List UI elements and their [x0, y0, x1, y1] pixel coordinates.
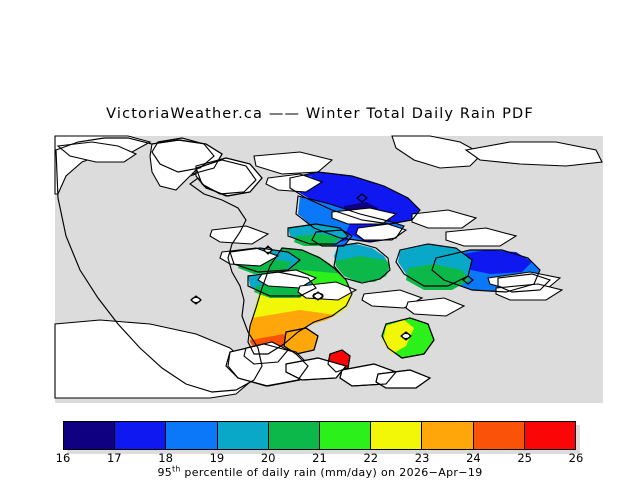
colorbar-segment-1	[115, 422, 166, 449]
colorbar-tick-labels: 1617181920212223242526	[0, 451, 640, 467]
colorbar-tick-17: 17	[107, 451, 122, 465]
colorbar-tick-24: 24	[466, 451, 481, 465]
colorbar-segment-8	[474, 422, 525, 449]
colorbar-tick-19: 19	[210, 451, 225, 465]
colorbar-segment-6	[371, 422, 422, 449]
colorbar-tick-18: 18	[158, 451, 173, 465]
colorbar-segment-0	[64, 422, 115, 449]
colorbar-tick-25: 25	[517, 451, 532, 465]
caption-text: percentile of daily rain (mm/day) on 202…	[181, 466, 483, 479]
colorbar-tick-23: 23	[415, 451, 430, 465]
colorbar-segment-3	[218, 422, 269, 449]
colorbar-tick-26: 26	[569, 451, 584, 465]
colorbar-segment-7	[422, 422, 473, 449]
colorbar-tick-21: 21	[312, 451, 327, 465]
colorbar-segment-4	[269, 422, 320, 449]
colorbar-tick-20: 20	[261, 451, 276, 465]
caption-number: 95	[157, 466, 172, 479]
map-canvas	[0, 128, 640, 403]
colorbar-panel: 1617181920212223242526 95th percentile o…	[0, 418, 640, 480]
colorbar-segment-2	[166, 422, 217, 449]
colorbar-segment-5	[320, 422, 371, 449]
colorbar-caption: 95th percentile of daily rain (mm/day) o…	[0, 466, 640, 479]
colorbar-tick-16: 16	[56, 451, 71, 465]
colorbar[interactable]	[63, 421, 576, 450]
weather-map-page: VictoriaWeather.ca —— Winter Total Daily…	[0, 0, 640, 480]
caption-ordinal-suffix: th	[172, 464, 180, 473]
page-title: VictoriaWeather.ca —— Winter Total Daily…	[0, 106, 640, 122]
colorbar-segment-9	[525, 422, 575, 449]
colorbar-tick-22: 22	[363, 451, 378, 465]
map-panel	[0, 128, 640, 403]
